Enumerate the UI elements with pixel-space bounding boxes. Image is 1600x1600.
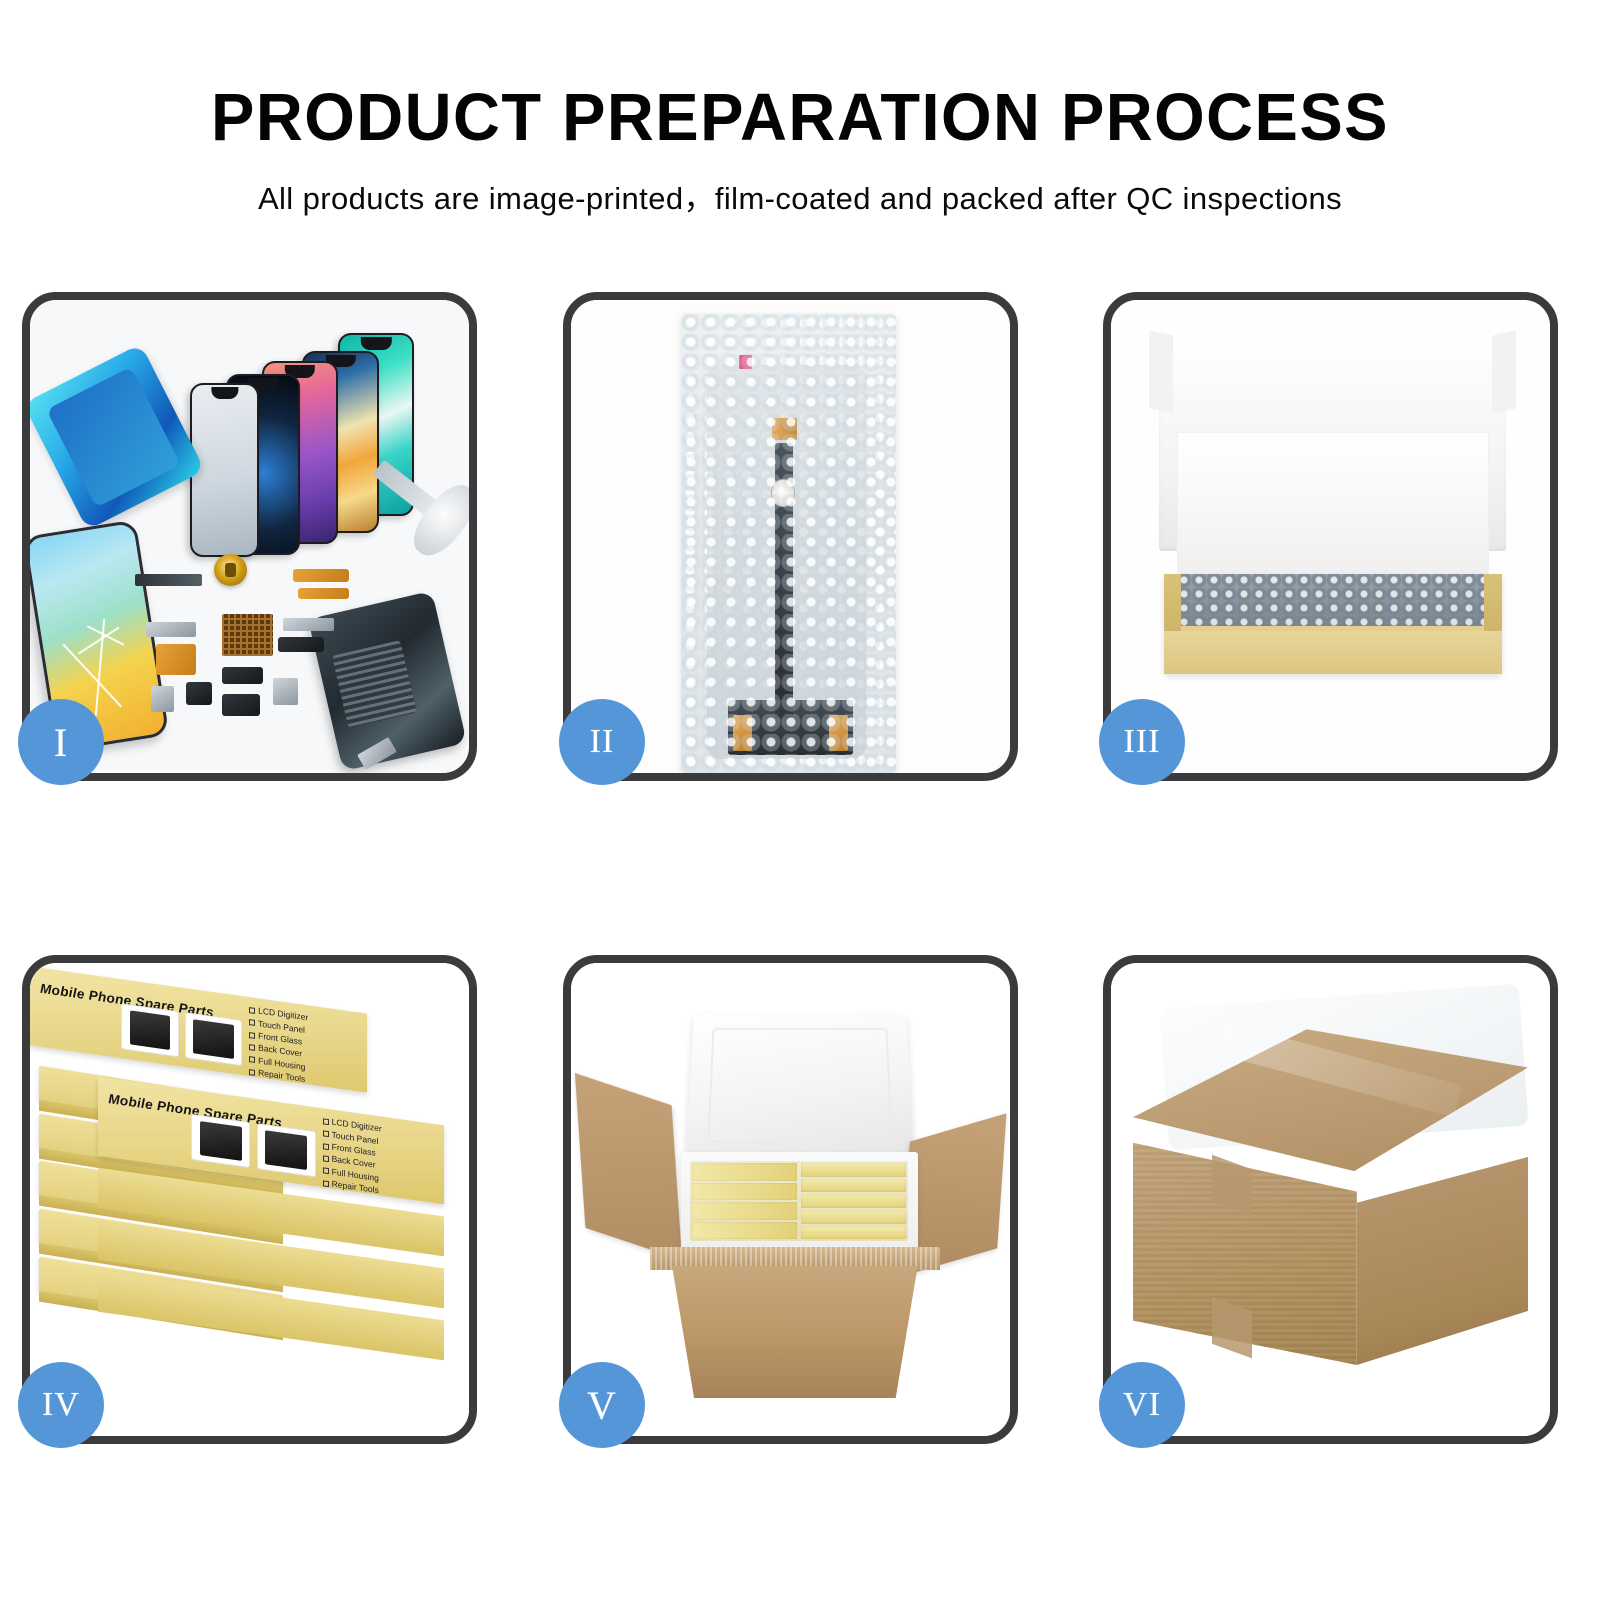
crack-line	[63, 643, 122, 706]
home-button-icon	[771, 479, 795, 507]
retail-box-stack-icon: Mobile Phone Spare Parts LCD Digitizer T…	[39, 1006, 460, 1403]
page-title: PRODUCT PREPARATION PROCESS	[24, 84, 1576, 151]
step-badge-4: IV	[18, 1362, 104, 1448]
process-step-grid: I II	[22, 292, 1578, 1412]
checkbox-icon	[322, 1155, 328, 1162]
step-panel-4: Mobile Phone Spare Parts LCD Digitizer T…	[22, 955, 477, 1444]
phone-photo-icon	[256, 1123, 315, 1177]
connector-board-icon	[728, 700, 853, 755]
step-image-2	[571, 300, 1010, 773]
step-panel-1: I	[22, 292, 477, 781]
speaker-mesh-icon	[135, 574, 201, 585]
bracket-icon	[283, 618, 334, 631]
checkbox-icon	[322, 1131, 328, 1138]
button-icon	[186, 682, 211, 705]
connector-icon	[278, 637, 324, 652]
checkbox-icon	[322, 1143, 328, 1150]
box-front-wall	[1164, 631, 1502, 674]
vibrator-icon	[273, 678, 298, 704]
ic-chip-icon	[222, 614, 273, 656]
checkbox-icon	[250, 1044, 256, 1051]
step-badge-5: V	[559, 1362, 645, 1448]
bubble-wrap-filler-icon	[1177, 574, 1484, 626]
checkbox-icon	[322, 1118, 328, 1125]
speaker-icon	[222, 694, 260, 717]
checkbox-icon	[322, 1168, 328, 1175]
header: PRODUCT PREPARATION PROCESS All products…	[0, 84, 1600, 218]
foam-box-icon	[681, 1152, 918, 1261]
camera-module-icon	[222, 667, 263, 684]
step-image-3	[1111, 300, 1550, 773]
step-panel-3: III	[1103, 292, 1558, 781]
step-badge-6: VI	[1099, 1362, 1185, 1448]
checkbox-icon	[250, 1068, 256, 1075]
small-parts-group	[135, 565, 390, 754]
checkbox-icon	[250, 1007, 256, 1014]
notch-icon	[211, 387, 238, 399]
retail-box-checklist: LCD Digitizer Touch Panel Front Glass Ba…	[250, 1003, 361, 1093]
step-panel-5: V	[563, 955, 1018, 1444]
checkbox-icon	[250, 1056, 256, 1063]
phone-photo-icon	[185, 1012, 243, 1066]
page-subtitle: All products are image-printed，film-coat…	[0, 173, 1600, 218]
box-column	[799, 1161, 908, 1241]
step-panel-2: II	[563, 292, 1018, 781]
volume-flex-icon	[156, 644, 197, 674]
packed-retail-boxes	[690, 1161, 908, 1241]
flex-cable-icon	[298, 588, 349, 599]
bubble-wrap-bag-icon	[681, 314, 896, 773]
phone-photo-icon	[121, 1003, 179, 1057]
front-glass-panel-icon	[190, 383, 259, 557]
retail-box-checklist: LCD Digitizer Touch Panel Front Glass Ba…	[322, 1115, 436, 1205]
foam-lid-icon	[685, 1014, 913, 1158]
step-badge-2: II	[559, 699, 645, 785]
infographic-page: PRODUCT PREPARATION PROCESS All products…	[0, 0, 1600, 1600]
step-badge-3: III	[1099, 699, 1185, 785]
phone-photo-icon	[191, 1114, 250, 1168]
notch-icon	[361, 337, 391, 350]
step-image-6	[1111, 963, 1550, 1436]
sim-tray-icon	[151, 686, 174, 712]
step-panel-6: VI	[1103, 955, 1558, 1444]
checkbox-icon	[322, 1180, 328, 1187]
step-image-5	[571, 963, 1010, 1436]
checkbox-icon	[250, 1019, 256, 1026]
step-image-1	[30, 300, 469, 773]
box-column	[690, 1161, 799, 1241]
wireless-charging-coil-icon	[214, 554, 247, 586]
checkbox-icon	[250, 1032, 256, 1039]
pink-label-icon	[739, 355, 752, 369]
white-foam-sheet-icon	[1177, 432, 1489, 583]
bracket-icon	[146, 622, 197, 637]
step-badge-1: I	[18, 699, 104, 785]
step-image-4: Mobile Phone Spare Parts LCD Digitizer T…	[30, 963, 469, 1436]
shipping-carton-icon	[672, 1266, 918, 1398]
flex-cable-icon	[293, 569, 349, 582]
